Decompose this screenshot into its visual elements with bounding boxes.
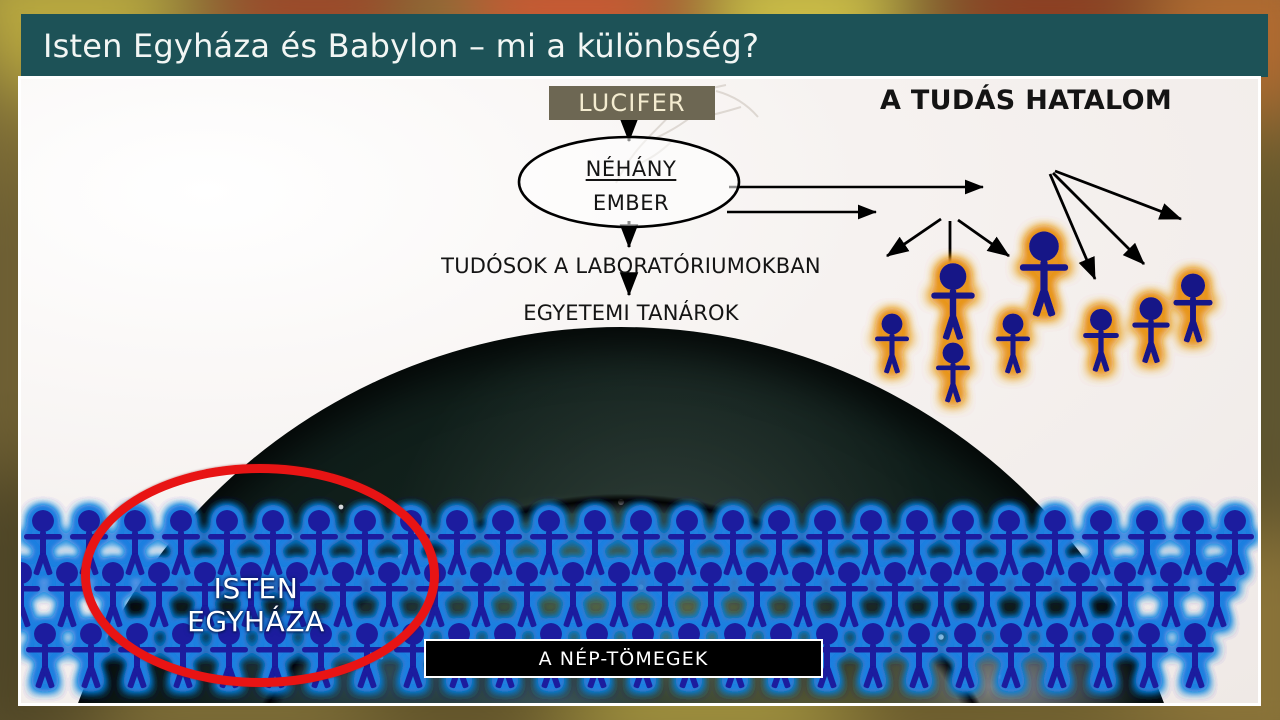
slide-title-bar: Isten Egyháza és Babylon – mi a különbsé… [21,14,1268,77]
nehany-label: NÉHÁNY [511,157,751,181]
lucifer-label: LUCIFER [578,89,686,117]
ember-label: EMBER [511,191,751,215]
nep-tomegek-bar: A NÉP-TÖMEGEK [424,639,823,678]
lucifer-box: LUCIFER [549,86,715,120]
isten-egyhaza-highlight-ellipse [81,464,439,687]
nep-tomegek-label: A NÉP-TÖMEGEK [539,648,709,670]
scientists-label: TUDÓSOK A LABORATÓRIUMOKBAN [411,254,851,278]
nehany-text: NÉHÁNY [586,157,677,181]
slide-content-area: LUCIFER A TUDÁS HATALOM NÉHÁNY EMBER TUD… [21,79,1258,703]
page-title: Isten Egyháza és Babylon – mi a különbsé… [21,27,759,65]
slide-stage: Isten Egyháza és Babylon – mi a különbsé… [0,0,1280,720]
professors-label: EGYETEMI TANÁROK [411,301,851,325]
knowledge-is-power-heading: A TUDÁS HATALOM [851,85,1201,116]
